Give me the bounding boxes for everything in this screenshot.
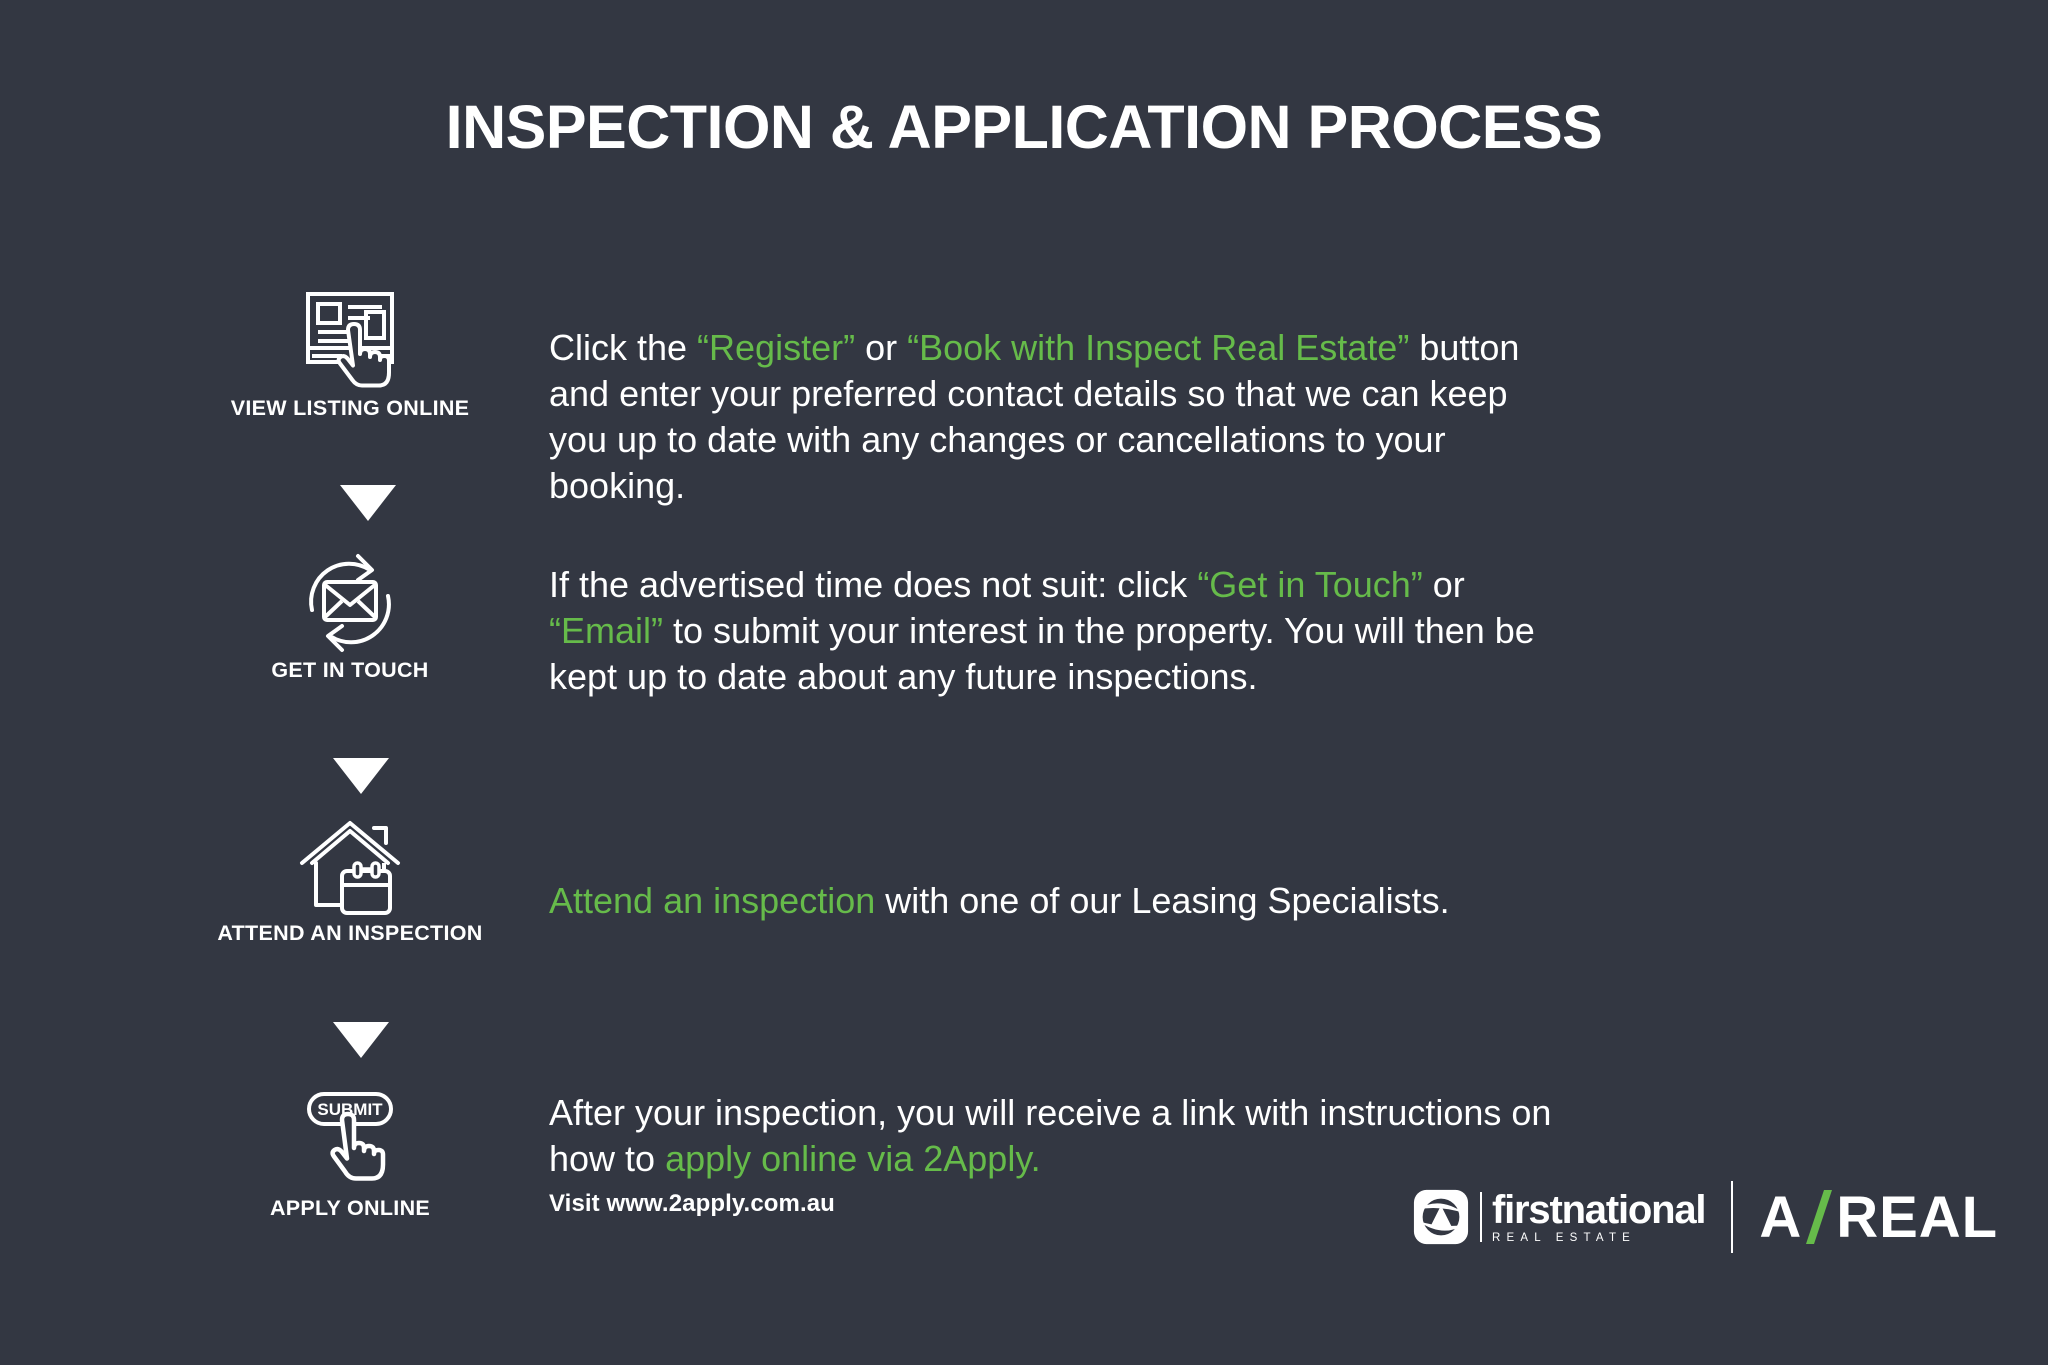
first-national-name: firstnational: [1492, 1191, 1705, 1229]
first-national-subtitle: REAL ESTATE: [1492, 1232, 1705, 1244]
paragraph-text: Click the: [549, 327, 697, 368]
highlighted-phrase: “Email”: [549, 610, 663, 651]
paragraph-attend-inspection: Attend an inspection with one of our Lea…: [549, 878, 1559, 924]
first-national-mark-icon: [1412, 1188, 1470, 1246]
visit-url-line[interactable]: Visit www.2apply.com.au: [549, 1190, 835, 1218]
a-real-letter: A: [1759, 1184, 1802, 1251]
paragraph-text: to submit your interest in the property.…: [549, 610, 1535, 697]
first-national-wordmark: firstnational REAL ESTATE: [1492, 1191, 1705, 1244]
a-real-logo: A REAL: [1759, 1184, 1998, 1251]
paragraph-text: or: [855, 327, 907, 368]
step-get-in-touch: GET IN TOUCH: [200, 548, 500, 683]
step-label-view-listing-online: VIEW LISTING ONLINE: [200, 396, 500, 421]
page-title: INSPECTION & APPLICATION PROCESS: [0, 92, 2048, 162]
triangle-down-icon-2: [333, 758, 389, 794]
paragraph-apply-online: After your inspection, you will receive …: [549, 1090, 1559, 1182]
highlighted-phrase: Attend an inspection: [549, 880, 875, 921]
paragraph-view-listing: Click the “Register” or “Book with Inspe…: [549, 325, 1559, 509]
paragraph-text: or: [1423, 564, 1465, 605]
first-national-logo: firstnational REAL ESTATE: [1412, 1188, 1705, 1246]
step-label-apply-online: APPLY ONLINE: [200, 1196, 500, 1221]
paragraph-text: with one of our Leasing Specialists.: [875, 880, 1449, 921]
logo-lockup: firstnational REAL ESTATE A REAL: [1412, 1180, 1998, 1254]
step-view-listing-online: VIEW LISTING ONLINE: [200, 286, 500, 421]
triangle-down-icon-1: [340, 485, 396, 521]
paragraph-get-in-touch: If the advertised time does not suit: cl…: [549, 562, 1559, 700]
step-attend-an-inspection: ATTEND AN INSPECTION: [200, 811, 500, 946]
a-real-word: REAL: [1836, 1184, 1998, 1251]
triangle-down-icon-3: [333, 1022, 389, 1058]
step-label-get-in-touch: GET IN TOUCH: [200, 658, 500, 683]
infographic-canvas: INSPECTION & APPLICATION PROCESS VIEW LI…: [0, 0, 2048, 1365]
listing-click-icon: [290, 286, 410, 396]
highlighted-phrase: apply online via 2Apply.: [665, 1138, 1041, 1179]
highlighted-phrase: “Get in Touch”: [1197, 564, 1422, 605]
logo-lockup-divider: [1731, 1181, 1733, 1253]
highlighted-phrase: “Register”: [697, 327, 855, 368]
paragraph-text: If the advertised time does not suit: cl…: [549, 564, 1197, 605]
highlighted-phrase: “Book with Inspect Real Estate”: [907, 327, 1409, 368]
step-label-attend-an-inspection: ATTEND AN INSPECTION: [200, 921, 500, 946]
submit-button-click-icon: SUBMIT: [290, 1086, 410, 1196]
green-slash-icon: [1806, 1188, 1832, 1246]
house-calendar-icon: [290, 811, 410, 921]
envelope-refresh-icon: [290, 548, 410, 658]
step-apply-online: SUBMIT APPLY ONLINE: [200, 1086, 500, 1221]
logo-inner-divider: [1480, 1192, 1482, 1242]
